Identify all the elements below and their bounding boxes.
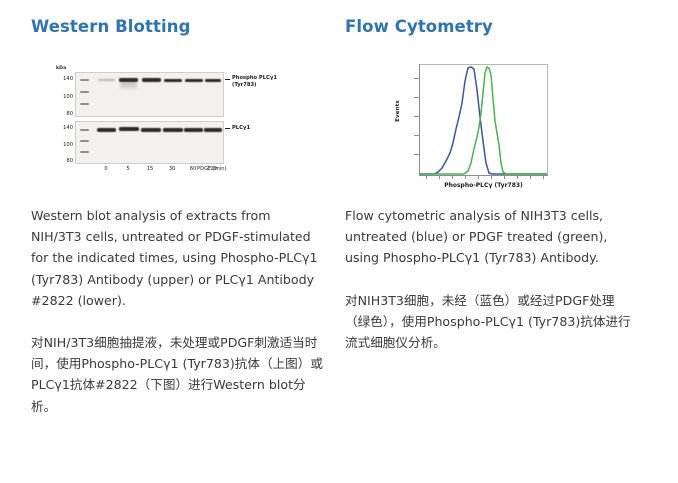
band-lane-5 [119, 78, 138, 82]
x-tick [439, 176, 440, 179]
band-lane-15 [141, 128, 161, 132]
ladder-mark-100 [80, 140, 89, 142]
flow-curve-pdgf-treated [420, 67, 547, 174]
caption-en-western: Western blot analysis of extracts from N… [31, 205, 323, 311]
captions-western-blotting: Western blot analysis of extracts from N… [31, 197, 339, 417]
band-lane-120 [205, 79, 221, 82]
flow-y-axis [419, 64, 420, 176]
panel-flow-cytometry: Flow Cytometry Events [339, 0, 678, 417]
band-smear-lane-5 [120, 82, 137, 91]
ladder-mark-100 [80, 91, 89, 93]
blot-label-total: PLCγ1 [232, 125, 250, 132]
mw-marker-140-upper: 140 [56, 77, 73, 83]
x-tick [465, 176, 466, 179]
band-lane-30 [164, 79, 182, 82]
figure-flow-cytometry: Events [345, 37, 678, 197]
mw-marker-140-lower: 140 [56, 126, 73, 132]
x-tick [426, 176, 427, 179]
band-lane-60 [184, 128, 203, 132]
x-tick [530, 176, 531, 179]
lane-label-15: 15 [147, 166, 154, 172]
x-tick [452, 176, 453, 179]
lane-label-5: 5 [126, 166, 129, 172]
blot-label-phospho: Phospho PLCγ1 (Tyr783) [232, 75, 277, 88]
x-tick [504, 176, 505, 179]
x-tick [491, 176, 492, 179]
blot-panel-phospho [75, 72, 224, 117]
mw-marker-100-upper: 100 [56, 95, 73, 101]
western-blot-image: kDa 140 100 80 140 100 80 [56, 66, 241, 176]
blot-panel-total [75, 121, 224, 164]
x-tick [478, 176, 479, 179]
lane-label-0: 0 [104, 166, 107, 172]
band-lane-0 [97, 128, 116, 132]
lane-label-30: 30 [169, 166, 176, 172]
band-lane-0 [98, 79, 115, 81]
band-lane-5 [119, 127, 139, 131]
flow-x-axis-label: Phospho-PLCγ (Tyr783) [419, 182, 548, 189]
blot-label-phospho-line2: (Tyr783) [232, 82, 277, 89]
label-leader-dash-phospho [225, 79, 230, 80]
band-lane-120 [204, 128, 222, 132]
blot-mw-markers-lower: 140 100 80 [56, 126, 73, 165]
lane-axis-name: PDGF (min) [197, 166, 227, 172]
ladder-mark-80 [80, 103, 89, 105]
page-root: Western Blotting kDa 140 100 80 140 100 … [0, 0, 678, 483]
captions-flow-cytometry: Flow cytometric analysis of NIH3T3 cells… [345, 197, 678, 353]
band-lane-30 [163, 128, 183, 132]
band-lane-60 [185, 79, 203, 82]
blot-kda-unit-label: kDa [56, 66, 66, 71]
label-leader-dash-total [225, 128, 230, 129]
blot-mw-markers-upper: 140 100 80 [56, 77, 73, 118]
two-column-layout: Western Blotting kDa 140 100 80 140 100 … [0, 0, 678, 417]
mw-marker-100-lower: 100 [56, 143, 73, 149]
caption-zh-western: 对NIH/3T3细胞抽提液，未处理或PDGF刺激适当时间，使用Phospho-P… [31, 332, 323, 417]
caption-zh-flow: 对NIH3T3细胞，未经（蓝色）或经过PDGF处理（绿色），使用Phospho-… [345, 290, 631, 354]
flow-histogram-image: Events [400, 64, 560, 189]
mw-marker-80-upper: 80 [56, 112, 73, 118]
lane-label-60: 60 [190, 166, 197, 172]
band-lane-15 [142, 78, 161, 81]
blot-label-phospho-line1: Phospho PLCγ1 [232, 75, 277, 82]
flow-y-axis-label: Events [395, 100, 401, 122]
ladder-mark-80 [80, 151, 89, 153]
caption-en-flow: Flow cytometric analysis of NIH3T3 cells… [345, 205, 631, 269]
blot-lane-labels: 0 5 15 30 60 120 PDGF (min) [75, 166, 224, 174]
page-title-western-blotting: Western Blotting [31, 0, 339, 37]
blot-label-total-line1: PLCγ1 [232, 125, 250, 132]
mw-marker-80-lower: 80 [56, 159, 73, 165]
ladder-mark-140 [80, 79, 89, 81]
x-tick [543, 176, 544, 179]
x-tick [517, 176, 518, 179]
flow-histogram-curves [420, 65, 547, 175]
figure-western-blot: kDa 140 100 80 140 100 80 [31, 37, 339, 197]
panel-western-blotting: Western Blotting kDa 140 100 80 140 100 … [0, 0, 339, 417]
ladder-mark-140 [80, 129, 89, 131]
page-title-flow-cytometry: Flow Cytometry [345, 0, 678, 37]
